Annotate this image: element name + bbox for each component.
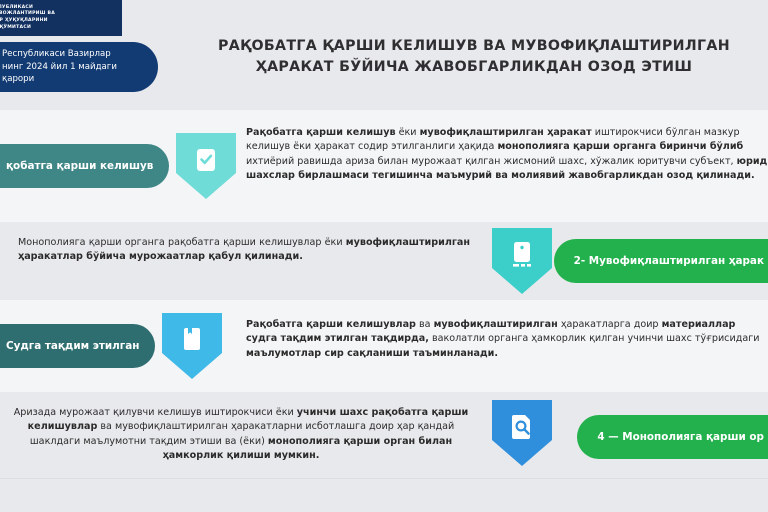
row-4-body-text: Аризада мурожаат қилувчи келишув иштирок… bbox=[12, 406, 470, 464]
row-2-body-text: Монополияга қарши органга рақобатга қарш… bbox=[18, 236, 470, 265]
row-3-body-text: Рақобатга қарши келишувлар ва мувофиқлаш… bbox=[246, 318, 766, 361]
infographic-page: ИСТОН РЕСПУБЛИКАСИ ОБАТНИ РИВОЖЛАНТИРИШ … bbox=[0, 0, 768, 512]
text-segment: Аризада мурожаат қилувчи келишув иштирок… bbox=[14, 407, 297, 418]
text-segment: Рақобатга қарши келишувлар bbox=[246, 319, 416, 330]
row-4-pill-text: 4 — Монополияга қарши ор bbox=[597, 431, 764, 443]
decree-line: нинг 2024 йил 1 майдаги bbox=[2, 61, 146, 74]
shield-book-icon-svg bbox=[162, 313, 222, 379]
decree-line: Республикаси Вазирлар bbox=[2, 48, 146, 61]
text-segment: мувофиқлаштирилган bbox=[434, 319, 558, 330]
text-segment: ҳаракатларга доир bbox=[558, 319, 662, 330]
emblem-line: ОЯ ҚИЛИШ ҚЎМИТАСИ bbox=[0, 25, 116, 32]
text-segment: Монополияга қарши органга рақобатга қарш… bbox=[18, 237, 346, 248]
text-segment: ваколатли органга ҳамкорлик қилган учинч… bbox=[429, 333, 760, 344]
footer-strip bbox=[0, 478, 768, 512]
content-rows: қобатга қарши келишув Рақобатга қарши ке… bbox=[0, 110, 768, 482]
row-2-pill-text: 2- Мувофиқлаштирилган ҳарак bbox=[574, 255, 764, 267]
row-3-pill-label[interactable]: Судга тақдим этилган bbox=[0, 324, 155, 368]
content-row-3: Судга тақдим этилган Рақобатга қарши кел… bbox=[0, 300, 768, 392]
row-2-pill-label[interactable]: 2- Мувофиқлаштирилган ҳарак bbox=[554, 239, 768, 283]
row-3-pill-text: Судга тақдим этилган bbox=[6, 340, 139, 352]
shield-check-icon bbox=[176, 133, 236, 199]
row-1-pill-text: қобатга қарши келишув bbox=[6, 160, 153, 172]
shield-search-document-icon-svg bbox=[492, 400, 552, 466]
row-1-body-text: Рақобатга қарши келишув ёки мувофиқлашти… bbox=[246, 126, 768, 184]
shield-check-icon-svg bbox=[176, 133, 236, 199]
row-1-pill-label[interactable]: қобатга қарши келишув bbox=[0, 144, 169, 188]
committee-emblem-block: ИСТОН РЕСПУБЛИКАСИ ОБАТНИ РИВОЖЛАНТИРИШ … bbox=[0, 0, 122, 36]
decree-line: қарори bbox=[2, 73, 146, 86]
text-segment: ёки bbox=[396, 127, 420, 138]
text-segment: мувофиқлаштирилган ҳаракат bbox=[420, 127, 592, 138]
emblem-line: ЪМОЛЧИЛАР ҲУҚУҚЛАРИНИ bbox=[0, 18, 116, 25]
shield-document-icon-svg bbox=[492, 228, 552, 294]
shield-document-icon bbox=[492, 228, 552, 294]
footer-divider bbox=[0, 478, 768, 479]
shield-search-document-icon bbox=[492, 400, 552, 466]
shield-book-icon bbox=[162, 313, 222, 379]
page-title-line-1: РАҚОБАТГА ҚАРШИ КЕЛИШУВ ВА МУВОФИҚЛАШТИР… bbox=[186, 36, 762, 57]
page-title-line-2: ҲАРАКАТ БЎЙИЧА ЖАВОБГАРЛИКДАН ОЗОД ЭТИШ bbox=[186, 57, 762, 78]
text-segment: Рақобатга қарши келишув bbox=[246, 127, 396, 138]
content-row-4: Аризада мурожаат қилувчи келишув иштирок… bbox=[0, 392, 768, 482]
header: ИСТОН РЕСПУБЛИКАСИ ОБАТНИ РИВОЖЛАНТИРИШ … bbox=[0, 0, 768, 110]
content-row-1: қобатга қарши келишув Рақобатга қарши ке… bbox=[0, 110, 768, 222]
text-segment: маълумотлар сир сақланиши таъминланади. bbox=[246, 348, 498, 359]
text-segment: ва bbox=[416, 319, 434, 330]
text-segment: ихтиёрий равишда ариза билан мурожаат қи… bbox=[246, 156, 737, 167]
content-row-2: Монополияга қарши органга рақобатга қарш… bbox=[0, 222, 768, 300]
row-4-pill-label[interactable]: 4 — Монополияга қарши ор bbox=[577, 415, 768, 459]
emblem-line: ОБАТНИ РИВОЖЛАНТИРИШ ВА bbox=[0, 11, 116, 18]
decree-banner: Республикаси Вазирлар нинг 2024 йил 1 ма… bbox=[0, 42, 158, 92]
text-segment: монополияга қарши органга биринчи бўлиб bbox=[497, 141, 743, 152]
page-title: РАҚОБАТГА ҚАРШИ КЕЛИШУВ ВА МУВОФИҚЛАШТИР… bbox=[186, 36, 762, 78]
